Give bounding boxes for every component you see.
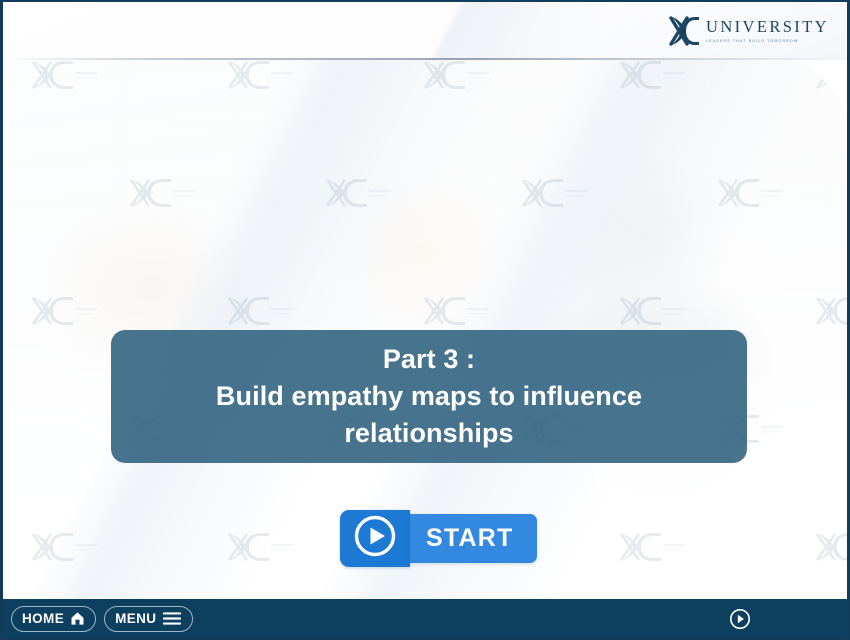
start-button-label: START bbox=[426, 524, 513, 553]
logo-name: UNIVERSITY bbox=[706, 19, 829, 36]
home-icon bbox=[70, 611, 85, 626]
xc-monogram-watermark-icon bbox=[3, 530, 99, 564]
start-button-label-panel[interactable]: START bbox=[410, 514, 537, 563]
xc-monogram-watermark-icon bbox=[199, 530, 295, 564]
menu-button[interactable]: MENU bbox=[104, 606, 193, 632]
xc-monogram-watermark-icon bbox=[3, 58, 99, 92]
title-line-2: Build empathy maps to influence bbox=[216, 378, 642, 415]
home-button[interactable]: HOME bbox=[11, 606, 96, 632]
xc-monogram-watermark-icon bbox=[395, 58, 491, 92]
course-player-stage: UNIVERSITY LEADERS THAT BUILD TOMORROW P… bbox=[0, 0, 850, 640]
title-line-3: relationships bbox=[216, 415, 642, 452]
logo-tagline: LEADERS THAT BUILD TOMORROW bbox=[706, 39, 829, 43]
start-button-icon-panel[interactable] bbox=[340, 510, 410, 567]
lesson-title: Part 3 : Build empathy maps to influence… bbox=[200, 341, 658, 453]
play-circle-icon bbox=[353, 514, 397, 563]
play-button[interactable] bbox=[729, 608, 751, 630]
university-logo: UNIVERSITY LEADERS THAT BUILD TOMORROW bbox=[665, 11, 829, 51]
xc-monogram-watermark-icon bbox=[199, 58, 295, 92]
bottom-navigation-bar: HOME MENU bbox=[3, 599, 847, 638]
hamburger-menu-icon bbox=[162, 611, 182, 626]
xc-monogram-watermark-icon bbox=[199, 294, 295, 328]
xc-monogram-watermark-icon bbox=[591, 294, 687, 328]
xc-monogram-watermark-icon bbox=[395, 294, 491, 328]
xc-monogram-watermark-icon bbox=[591, 530, 687, 564]
lesson-title-panel: Part 3 : Build empathy maps to influence… bbox=[111, 330, 747, 463]
start-button[interactable]: START bbox=[340, 510, 537, 567]
xc-monogram-watermark-icon bbox=[787, 58, 847, 92]
xc-monogram-watermark-icon bbox=[787, 530, 847, 564]
xc-monogram-icon bbox=[665, 12, 705, 50]
xc-monogram-watermark-icon bbox=[297, 176, 393, 210]
header-bar: UNIVERSITY LEADERS THAT BUILD TOMORROW bbox=[3, 2, 847, 60]
home-button-label: HOME bbox=[22, 611, 64, 626]
main-visual-area: Part 3 : Build empathy maps to influence… bbox=[3, 58, 847, 599]
title-line-1: Part 3 : bbox=[216, 341, 642, 378]
xc-monogram-watermark-icon bbox=[3, 294, 99, 328]
xc-monogram-watermark-icon bbox=[689, 176, 785, 210]
xc-monogram-watermark-icon bbox=[787, 294, 847, 328]
xc-monogram-watermark-icon bbox=[591, 58, 687, 92]
xc-monogram-watermark-icon bbox=[101, 176, 197, 210]
xc-monogram-watermark-icon bbox=[493, 176, 589, 210]
menu-button-label: MENU bbox=[115, 611, 156, 626]
